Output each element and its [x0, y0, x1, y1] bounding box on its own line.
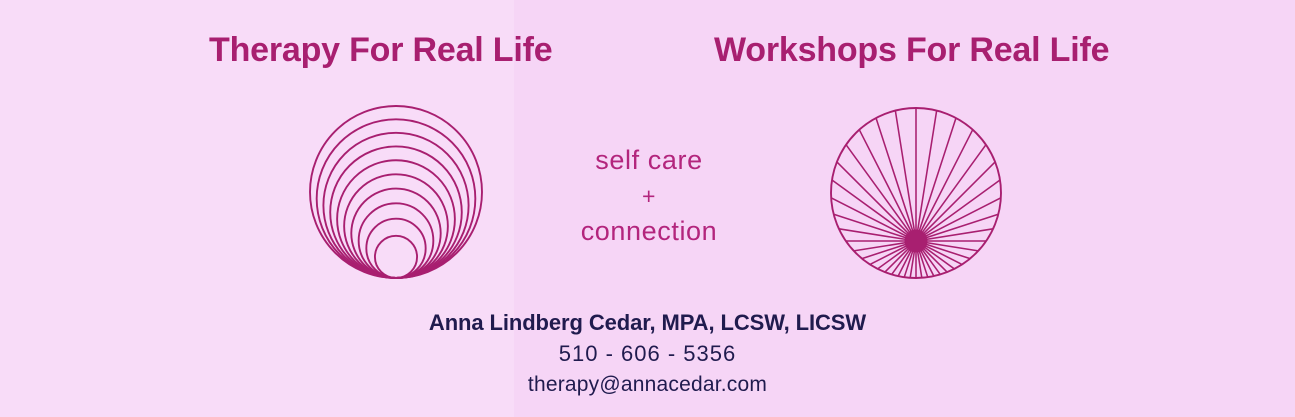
sunburst-logo [822, 106, 1010, 280]
tagline-line-1: self care [518, 142, 780, 179]
tagline-line-2: connection [518, 213, 780, 250]
banner-root: Therapy For Real Life Workshops For Real… [0, 0, 1295, 417]
concentric-rings-logo [296, 104, 496, 280]
phone-number[interactable]: 510 - 606 - 5356 [0, 338, 1295, 370]
contact-block: Anna Lindberg Cedar, MPA, LCSW, LICSW 51… [0, 308, 1295, 400]
tagline-plus: + [518, 179, 780, 213]
practitioner-name: Anna Lindberg Cedar, MPA, LCSW, LICSW [0, 308, 1295, 338]
heading-workshops: Workshops For Real Life [714, 31, 1109, 70]
center-tagline: self care + connection [518, 142, 780, 250]
sunburst-icon [822, 106, 1010, 280]
concentric-rings-icon [296, 104, 496, 280]
heading-therapy: Therapy For Real Life [209, 31, 552, 70]
email-address[interactable]: therapy@annacedar.com [0, 370, 1295, 400]
